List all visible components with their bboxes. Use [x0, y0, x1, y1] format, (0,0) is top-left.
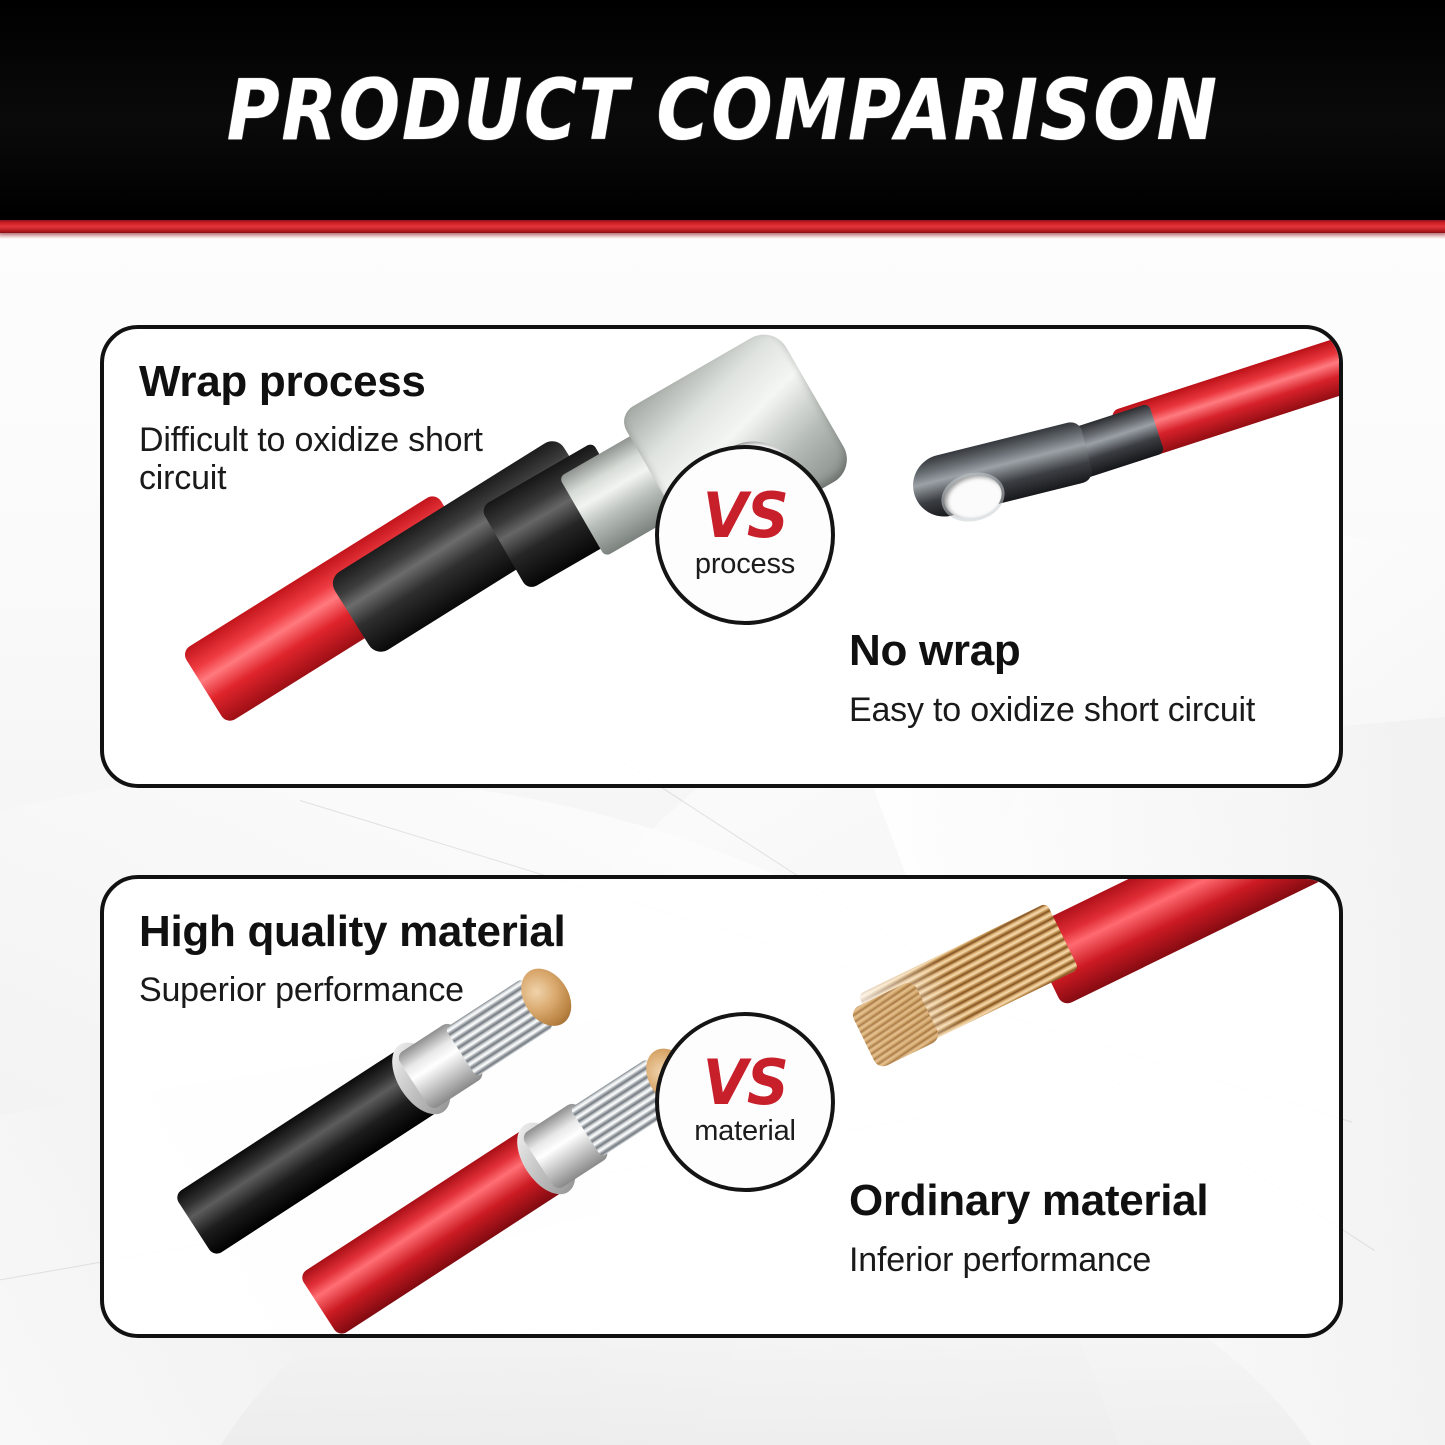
vs-badge-label: VS	[702, 1054, 787, 1111]
header-banner: PRODUCT COMPARISON	[0, 0, 1445, 220]
process-good-subtitle: Difficult to oxidize short circuit	[139, 421, 569, 497]
material-good-title: High quality material	[139, 907, 565, 957]
unwrapped-lug-illustration	[904, 384, 1343, 644]
vs-badge-material: VS material	[655, 1012, 835, 1192]
vs-badge-label: VS	[702, 487, 787, 544]
page-title: PRODUCT COMPARISON	[227, 68, 1219, 152]
material-bad-title: Ordinary material	[849, 1176, 1208, 1226]
vs-badge-process: VS process	[655, 445, 835, 625]
header-accent-glow	[0, 233, 1445, 239]
material-good-subtitle: Superior performance	[139, 971, 659, 1009]
lug-pad-bad	[907, 420, 1095, 523]
process-bad-subtitle: Easy to oxidize short circuit	[849, 691, 1255, 729]
vs-badge-sublabel: material	[694, 1117, 796, 1146]
bare-copper-cable-illustration	[864, 875, 1343, 1169]
infographic-page: PRODUCT COMPARISON SC 35-8	[0, 0, 1445, 1445]
red-jacket-bad	[1025, 875, 1343, 1007]
material-bad-subtitle: Inferior performance	[849, 1241, 1151, 1279]
process-good-title: Wrap process	[139, 357, 426, 407]
header-accent-bar	[0, 220, 1445, 233]
vs-badge-sublabel: process	[695, 550, 795, 579]
process-bad-title: No wrap	[849, 626, 1020, 676]
